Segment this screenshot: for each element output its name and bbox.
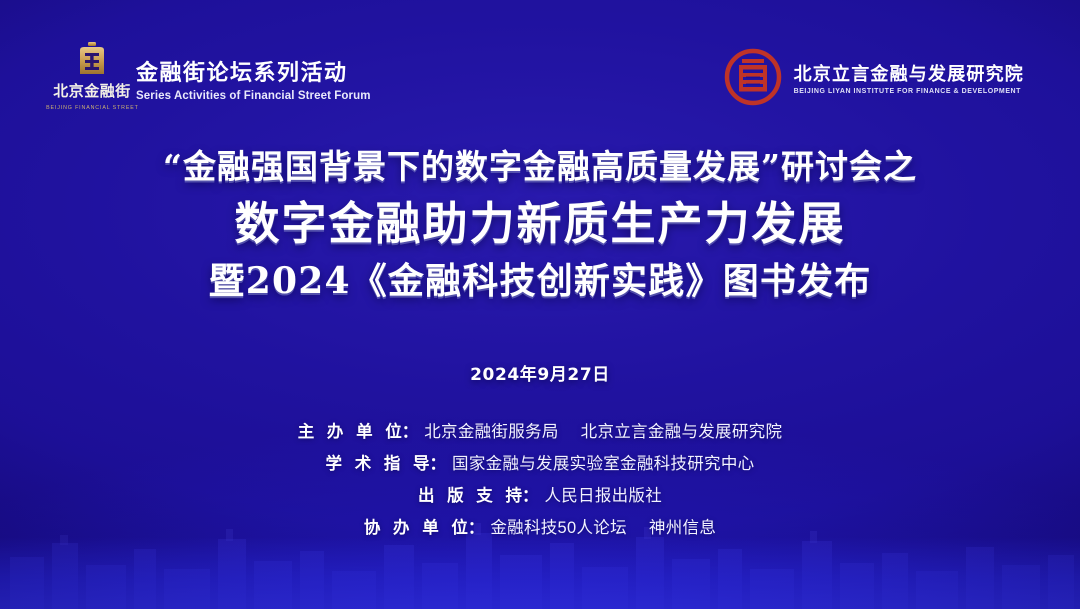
poster-stage: 北京金融街 BEIJING FINANCIAL STREET 金融街论坛系列活动… — [0, 0, 1080, 609]
credit-row: 主办单位 ： 北京金融街服务局 北京立言金融与发展研究院 — [298, 418, 783, 442]
liyan-title-cn: 北京立言金融与发展研究院 — [794, 60, 1024, 86]
beijing-financial-street-logo: 北京金融街 BEIJING FINANCIAL STREET 金融街论坛系列活动… — [62, 42, 371, 111]
credit-value: 金融科技50人论坛 — [490, 514, 627, 538]
credit-value: 国家金融与发展实验室金融科技研究中心 — [452, 450, 754, 474]
credit-colon: ： — [402, 418, 419, 442]
credit-label: 学术指导 — [326, 450, 430, 474]
financial-street-bell-icon — [74, 42, 110, 76]
credit-colon: ： — [522, 482, 539, 506]
title-line-1: “金融强国背景下的数字金融高质量发展”研讨会之 — [0, 148, 1080, 186]
liyan-institute-seal-icon — [724, 48, 782, 106]
credits-block: 主办单位 ： 北京金融街服务局 北京立言金融与发展研究院 学术指导 ： 国家金融… — [0, 418, 1080, 538]
credit-row: 出版支持 ： 人民日报出版社 — [418, 482, 662, 506]
credit-row: 学术指导 ： 国家金融与发展实验室金融科技研究中心 — [326, 450, 755, 474]
credit-value-secondary: 北京立言金融与发展研究院 — [581, 418, 783, 442]
credit-colon: ： — [430, 450, 447, 474]
liyan-title-block: 北京立言金融与发展研究院 BEIJING LIYAN INSTITUTE FOR… — [794, 60, 1024, 95]
forum-title-en: Series Activities of Financial Street Fo… — [136, 90, 371, 102]
title-line-2: 数字金融助力新质生产力发展 — [0, 198, 1080, 249]
beijing-financial-street-emblem: 北京金融街 BEIJING FINANCIAL STREET — [62, 42, 122, 111]
liyan-institute-logo: 北京立言金融与发展研究院 BEIJING LIYAN INSTITUTE FOR… — [724, 48, 1024, 106]
liyan-title-en: BEIJING LIYAN INSTITUTE FOR FINANCE & DE… — [794, 88, 1024, 95]
credit-value: 人民日报出版社 — [544, 482, 662, 506]
main-title-block: “金融强国背景下的数字金融高质量发展”研讨会之 数字金融助力新质生产力发展 暨2… — [0, 148, 1080, 302]
credit-label: 主办单位 — [298, 418, 402, 442]
credit-row: 协办单位 ： 金融科技50人论坛 神州信息 — [364, 514, 716, 538]
credit-value-secondary: 神州信息 — [649, 514, 716, 538]
title-line-3: 暨2024《金融科技创新实践》图书发布 — [0, 261, 1080, 302]
bfs-name-en: BEIJING FINANCIAL STREET — [46, 105, 139, 111]
forum-title-block: 金融街论坛系列活动 Series Activities of Financial… — [136, 51, 371, 102]
credit-label: 出版支持 — [418, 482, 522, 506]
event-date: 2024年9月27日 — [0, 360, 1080, 385]
forum-title-cn: 金融街论坛系列活动 — [136, 55, 371, 87]
credit-value: 北京金融街服务局 — [424, 418, 558, 442]
credit-label: 协办单位 — [364, 514, 468, 538]
bfs-name-cn: 北京金融街 — [53, 80, 131, 101]
credit-colon: ： — [468, 514, 485, 538]
